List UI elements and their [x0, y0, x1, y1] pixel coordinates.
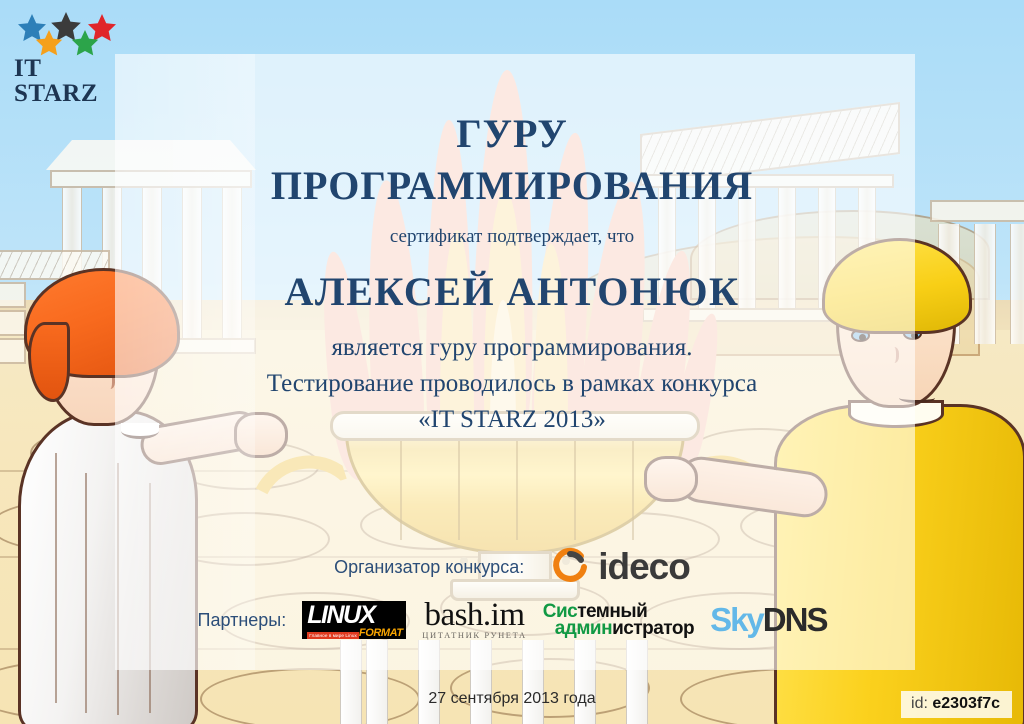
stars-svg: [14, 12, 122, 56]
certificate-body-line2: Тестирование проводилось в рамках конкур…: [0, 370, 1024, 398]
partner-logo-sysadmin: Системный администратор: [543, 603, 694, 637]
skydns-word2: DNS: [763, 601, 827, 638]
certificate-id-badge: id: e2303f7c: [901, 691, 1012, 718]
partner-logo-bashim: bash.im ЦИТАТНИК РУНЕТА: [422, 600, 526, 640]
ideco-logo: ideco: [550, 546, 690, 588]
certificate-canvas: IT STARZ ГУРУ ПРОГРАММИРОВАНИЯ сертифика…: [0, 0, 1024, 724]
sysadmin-line2-green: админ: [555, 618, 612, 639]
bashim-tagline: ЦИТАТНИК РУНЕТА: [422, 630, 526, 640]
partner-logo-linux-format: LINUX Главное в мире Linux FORMAT: [302, 601, 406, 639]
skydns-word1: Sky: [710, 601, 763, 638]
certificate-body-line1: является гуру программирования.: [0, 334, 1024, 362]
sysadmin-line2-black: истратор: [612, 618, 694, 639]
it-starz-logo: IT STARZ: [14, 12, 124, 92]
bashim-wordmark: bash.im: [422, 600, 526, 630]
recipient-name: АЛЕКСЕЙ АНТОНЮК: [0, 268, 1024, 315]
logo-wordmark: IT STARZ: [14, 56, 124, 106]
certificate-content: ГУРУ ПРОГРАММИРОВАНИЯ сертификат подтвер…: [0, 0, 1024, 724]
organizer-label: Организатор конкурса:: [334, 557, 524, 578]
linux-format-word2: FORMAT: [359, 627, 403, 639]
logo-star-cluster: [14, 12, 122, 54]
certificate-date: 27 сентября 2013 года: [0, 690, 1024, 708]
partners-label: Партнеры:: [198, 610, 287, 631]
certificate-title-line2: ПРОГРАММИРОВАНИЯ: [0, 162, 1024, 209]
id-value: e2303f7c: [932, 695, 1000, 712]
ideco-swoosh-icon: [550, 547, 590, 587]
certificate-title-line1: ГУРУ: [0, 110, 1024, 157]
certificate-body-line3: «IT STARZ 2013»: [0, 406, 1024, 434]
linux-format-tagline: Главное в мире Linux: [307, 632, 359, 639]
partners-row: Партнеры: LINUX Главное в мире Linux FOR…: [0, 600, 1024, 640]
star-green-icon: [72, 30, 98, 55]
id-label: id:: [911, 695, 928, 712]
partner-logo-skydns: SkyDNS: [710, 601, 826, 639]
linux-format-word1: LINUX: [307, 603, 375, 627]
star-red-icon: [88, 14, 116, 41]
star-black-icon: [51, 12, 81, 41]
organizer-row: Организатор конкурса: ideco: [0, 546, 1024, 588]
star-orange-icon: [36, 30, 62, 55]
ideco-wordmark: ideco: [598, 546, 690, 588]
certificate-subtitle: сертификат подтверждает, что: [0, 226, 1024, 248]
star-blue-icon: [18, 14, 46, 41]
